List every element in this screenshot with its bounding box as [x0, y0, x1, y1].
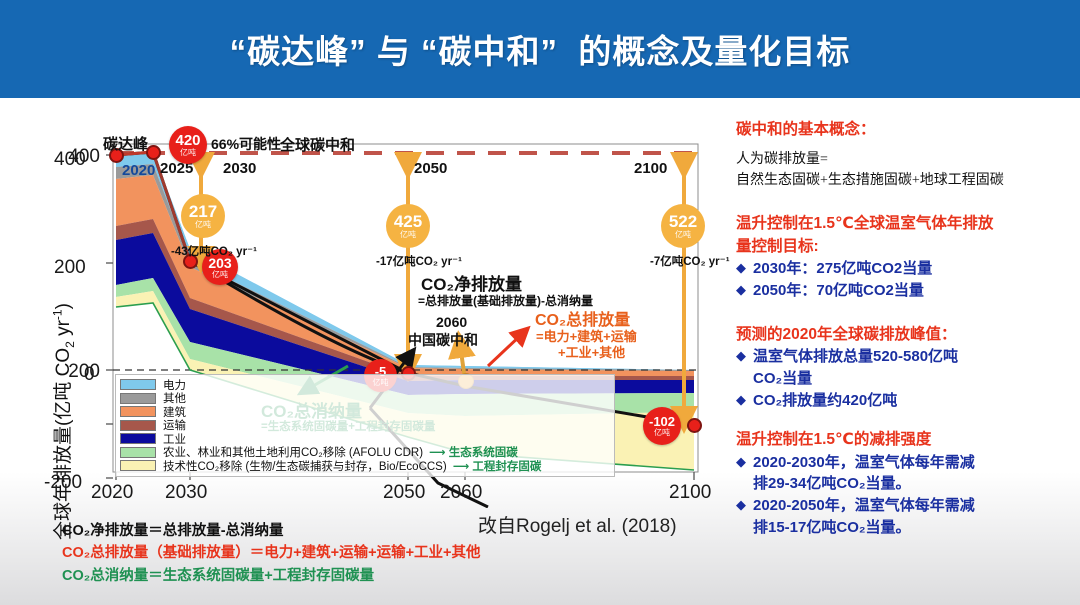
diamond-icon: ◆ — [736, 280, 746, 300]
anno-year-2050: 2050 — [414, 160, 447, 177]
slide-header-bar: “碳达峰” 与 “碳中和” 的概念及量化目标 — [0, 0, 1080, 98]
section3-bullet-2: ◆ CO₂排放量约420亿吨 — [736, 390, 1074, 412]
bubble-minus102: -102 亿吨 — [643, 407, 681, 445]
right-info-panel: 碳中和的基本概念： 人为碳排放量= 自然生态固碳+生态措施固碳+地球工程固碳 温… — [736, 118, 1074, 539]
section2-bullet-2: ◆ 2050年：70亿吨CO2当量 — [736, 280, 1074, 302]
section3-bullet-1: ◆ 温室气体排放总量520-580亿吨 CO₂当量 — [736, 346, 1074, 390]
rate-label-2050: -17亿吨CO₂ yr⁻¹ — [376, 253, 462, 269]
section3-bullet-1-wrap: 温室气体排放总量520-580亿吨 CO₂当量 — [753, 346, 958, 390]
ytick-label-neg200: -200 — [44, 472, 82, 494]
section4-bullet-2-line1: 2020-2050年，温室气体每年需减 — [753, 495, 975, 517]
section4-bullet-1-line1: 2020-2030年，温室气体每年需减 — [753, 452, 975, 474]
diamond-icon: ◆ — [736, 346, 746, 366]
section4-bullet-2-line2: 排15-17亿吨CO₂当量。 — [753, 517, 975, 539]
marker-dot-2100 — [687, 418, 702, 433]
section4-bullet-1-wrap: 2020-2030年，温室气体每年需减 排29-34亿吨CO₂当量。 — [753, 452, 975, 496]
section2-bullet-1: ◆ 2030年：275亿吨CO2当量 — [736, 258, 1074, 280]
rate-label-2100: -7亿吨CO₂ yr⁻¹ — [650, 253, 730, 269]
ytick-label-200: 200 — [54, 257, 86, 279]
section4-bullet-1: ◆ 2020-2030年，温室气体每年需减 排29-34亿吨CO₂当量。 — [736, 452, 1074, 496]
legend-swatch-techcdr — [120, 460, 156, 471]
xtick-label-2060: 2060 — [440, 482, 482, 504]
formula-net: CO₂净排放量＝总排放量-总消纳量 — [62, 520, 682, 542]
anno-year-2020: 2020 — [122, 162, 155, 179]
section3-bullet-2-text: CO₂排放量约420亿吨 — [753, 390, 897, 412]
legend-swatch-industry — [120, 433, 156, 444]
legend-item[interactable]: 运输 — [120, 419, 610, 433]
rate-label-2030: -43亿吨CO₂ yr⁻¹ — [171, 243, 257, 259]
formula-total-emission: CO₂总排放量（基础排放量）＝电力+建筑+运输+运输+工业+其他 — [62, 542, 682, 564]
diamond-icon: ◆ — [736, 258, 746, 278]
marker-dot-2025 — [146, 145, 161, 160]
legend-swatch-other — [120, 393, 156, 404]
xtick-label-2100: 2100 — [669, 482, 711, 504]
chart-legend: 电力 其他 建筑 运输 工业 农业、林业和其他土地利用CO₂移除 (AFOLU … — [115, 374, 615, 477]
ytick-label-0: 0 — [84, 364, 95, 386]
diamond-icon: ◆ — [736, 452, 746, 472]
section2-bullet-2-text: 2050年：70亿吨CO2当量 — [753, 280, 924, 302]
section4-bullet-2-wrap: 2020-2050年，温室气体每年需减 排15-17亿吨CO₂当量。 — [753, 495, 975, 539]
anno-66-percent: 66%可能性 — [211, 134, 281, 154]
total-emission-line2: +工业+其他 — [558, 342, 625, 361]
ytick-label-400: 400 — [54, 149, 86, 171]
legend-item[interactable]: 建筑 — [120, 405, 610, 419]
legend-label: 技术性CO₂移除 (生物/生态碳捕获与封存，Bio/EcoCCS) — [163, 458, 447, 474]
bubble-522: 522 亿吨 — [661, 204, 705, 248]
legend-swatch-buildings — [120, 406, 156, 417]
formula-total-sink: CO₂总消纳量＝生态系统固碳量+工程封存固碳量 — [62, 565, 682, 587]
china-2060-label: 中国碳中和 — [408, 330, 478, 350]
xtick-label-2050: 2050 — [383, 482, 425, 504]
section1-line2: 自然生态固碳+生态措施固碳+地球工程固碳 — [736, 171, 1074, 191]
section2-heading-line1: 温升控制在1.5℃全球温室气体年排放 — [736, 212, 1074, 235]
legend-item[interactable]: 技术性CO₂移除 (生物/生态碳捕获与封存，Bio/EcoCCS) ⟶ 工程封存… — [120, 459, 610, 473]
section2-heading-line2: 量控制目标: — [736, 235, 1074, 258]
legend-arrow-techcdr: ⟶ 工程封存固碳 — [453, 458, 542, 474]
xtick-label-2020: 2020 — [91, 482, 133, 504]
section2-bullet-1-text: 2030年：275亿吨CO2当量 — [753, 258, 932, 280]
china-2060-year: 2060 — [436, 314, 467, 330]
section3-bullet-1-line2: CO₂当量 — [753, 368, 958, 390]
bubble-425: 425 亿吨 — [386, 204, 430, 248]
section4-bullet-1-line2: 排29-34亿吨CO₂当量。 — [753, 473, 975, 495]
legend-item[interactable]: 其他 — [120, 392, 610, 406]
diamond-icon: ◆ — [736, 495, 746, 515]
legend-swatch-power — [120, 379, 156, 390]
legend-item[interactable]: 电力 — [120, 378, 610, 392]
anno-global-neutral: 全球碳中和 — [280, 134, 355, 155]
page-title: “碳达峰” 与 “碳中和” 的概念及量化目标 — [230, 25, 851, 73]
anno-year-2100: 2100 — [634, 160, 667, 177]
diamond-icon: ◆ — [736, 390, 746, 410]
section4-bullet-2: ◆ 2020-2050年，温室气体每年需减 排15-17亿吨CO₂当量。 — [736, 495, 1074, 539]
xtick-label-2030: 2030 — [165, 482, 207, 504]
bubble-420: 420 亿吨 — [169, 126, 207, 164]
bubble-217: 217 亿吨 — [181, 194, 225, 238]
anno-year-2030: 2030 — [223, 160, 256, 177]
section1-heading: 碳中和的基本概念： — [736, 118, 1074, 141]
formula-block: CO₂净排放量＝总排放量-总消纳量 CO₂总排放量（基础排放量）＝电力+建筑+运… — [62, 520, 682, 587]
legend-swatch-transport — [120, 420, 156, 431]
section3-bullet-1-line1: 温室气体排放总量520-580亿吨 — [753, 346, 958, 368]
section1-line1: 人为碳排放量= — [736, 150, 1074, 170]
legend-swatch-afolu — [120, 447, 156, 458]
anno-carbon-peak: 碳达峰 — [103, 133, 148, 154]
section4-heading: 温升控制在1.5℃的减排强度 — [736, 428, 1074, 451]
section3-heading: 预测的2020年全球碳排放峰值： — [736, 323, 1074, 346]
